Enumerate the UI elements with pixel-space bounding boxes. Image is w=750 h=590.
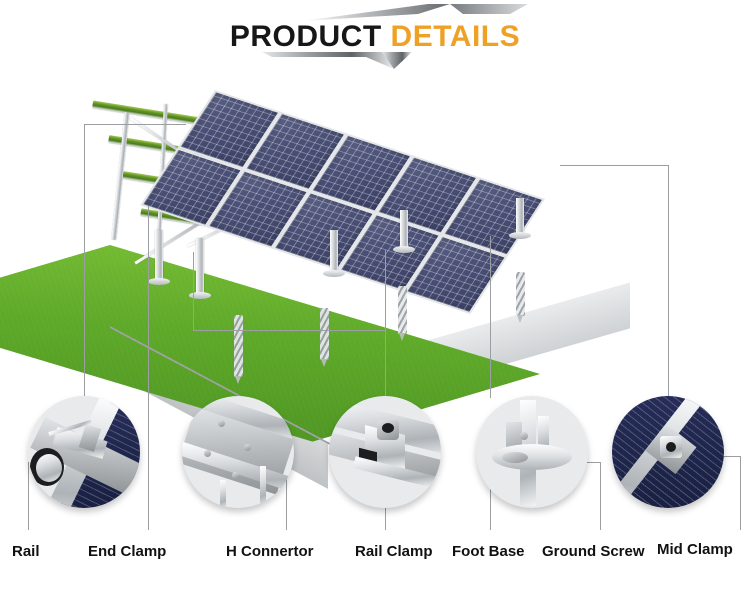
bolt-hole xyxy=(520,432,528,440)
ground-screw-pile xyxy=(320,308,329,360)
support-post xyxy=(220,480,226,508)
leader-line-ground-screw-label xyxy=(600,462,601,530)
foot-base-flange xyxy=(148,278,170,285)
caption-rail: Rail xyxy=(12,543,40,560)
foot-base-flange xyxy=(509,232,531,239)
foot-base-detail-icon[interactable] xyxy=(476,396,588,508)
leader-line-h-connector xyxy=(193,330,385,331)
support-post xyxy=(155,230,163,282)
caption-foot-base: Foot Base xyxy=(452,543,525,560)
page-header: PRODUCT DETAILS xyxy=(0,0,750,80)
leader-line-mid-clamp xyxy=(560,165,668,166)
leader-line-mid-clamp xyxy=(668,165,669,397)
rail-detail-icon[interactable] xyxy=(28,396,140,508)
mid-clamp-detail-icon[interactable] xyxy=(612,396,724,508)
product-details-page: PRODUCT DETAILS xyxy=(0,0,750,590)
foot-base-flange xyxy=(323,270,345,277)
leader-line-end-clamp xyxy=(148,206,149,438)
bolt-hole xyxy=(218,420,225,427)
caption-ground-screw: Ground Screw xyxy=(542,543,645,560)
bolt-hole xyxy=(232,472,239,479)
ground-screw-pile xyxy=(234,315,243,377)
rail-clamp-detail-icon[interactable] xyxy=(329,396,441,508)
ground-screw-pile xyxy=(398,286,407,334)
bolt-hole xyxy=(244,444,251,451)
bolt-hole xyxy=(382,423,394,433)
leader-line-end-clamp-label xyxy=(148,438,149,530)
ground-mount-solar-array-illustration xyxy=(0,80,750,380)
leader-line-foot-base xyxy=(490,236,491,398)
bolt-hole xyxy=(666,442,676,452)
leader-line-mid-clamp-label xyxy=(740,456,741,530)
support-post xyxy=(400,210,408,250)
support-post xyxy=(330,230,338,274)
leader-line-h-connector xyxy=(193,252,194,330)
support-post xyxy=(260,466,266,508)
rail-cavity-inner xyxy=(36,454,62,482)
caption-h-connector: H Connertor xyxy=(226,543,314,560)
foot-base-flange xyxy=(393,246,415,253)
caption-end-clamp: End Clamp xyxy=(88,543,166,560)
ground-screw-pile xyxy=(516,272,525,316)
leader-line-rail xyxy=(84,124,186,125)
bolt-hole xyxy=(204,450,211,457)
leader-line-rail xyxy=(84,124,85,436)
h-connector-detail-icon[interactable] xyxy=(182,396,294,508)
support-post xyxy=(196,238,204,296)
chevron-swoosh-down-icon xyxy=(262,49,462,73)
support-post xyxy=(516,198,524,236)
caption-mid-clamp: Mid Clamp xyxy=(657,541,733,558)
caption-rail-clamp: Rail Clamp xyxy=(355,543,433,560)
flange-slot xyxy=(502,452,528,463)
